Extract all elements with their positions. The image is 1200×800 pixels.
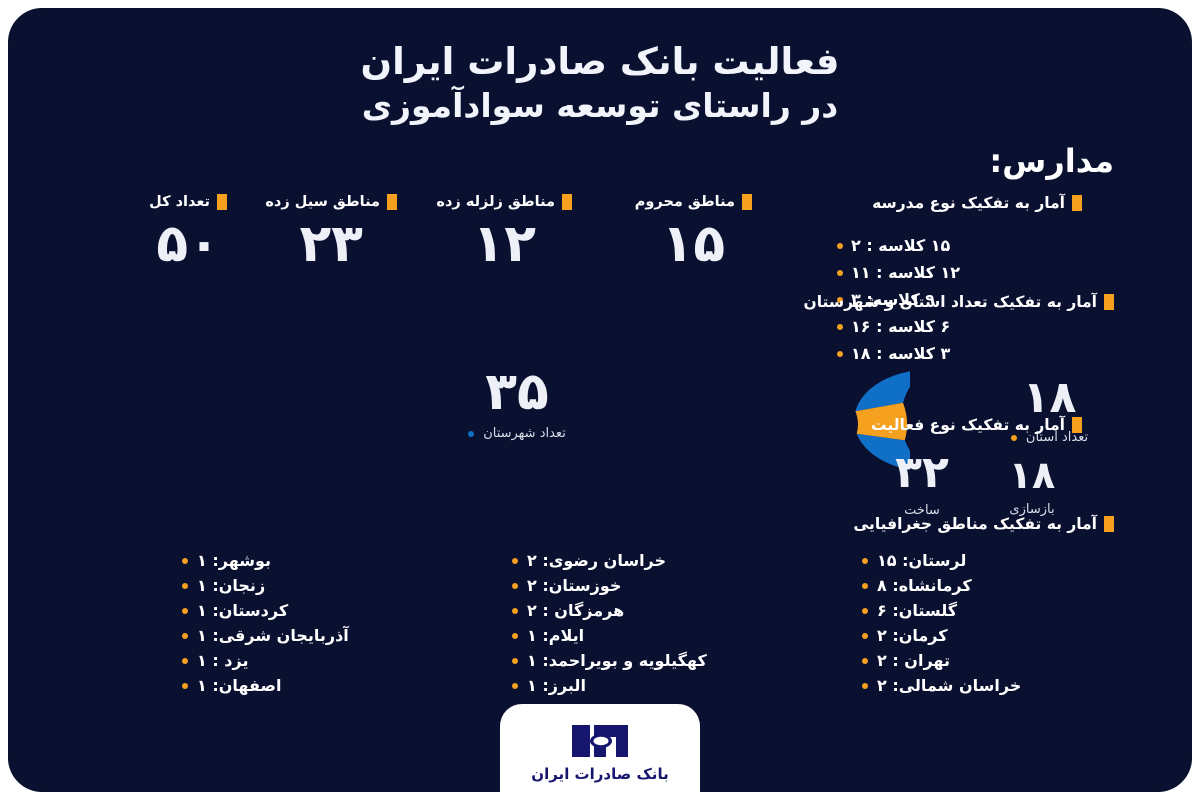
bullet-dot-icon — [512, 658, 518, 664]
geographic-item-label: لرستان: ۱۵ — [877, 553, 966, 569]
activity-type-heading: آمار به تفکیک نوع فعالیت — [871, 416, 1082, 434]
activity-type-heading-label: آمار به تفکیک نوع فعالیت — [871, 416, 1065, 434]
geographic-item-label: گلستان: ۶ — [877, 603, 957, 619]
bullet-square-icon — [217, 194, 227, 210]
stat-total-schools-head: تعداد کل — [149, 194, 227, 210]
stat-earthquake-areas-label: مناطق زلزله زده — [436, 194, 555, 210]
bullet-square-icon — [1104, 294, 1114, 310]
activity-renovation-value: ۱۸ — [982, 456, 1082, 494]
title-line-2: در راستای توسعه سوادآموزی — [8, 85, 1192, 127]
geographic-item-label: کرمان: ۲ — [877, 628, 948, 644]
school-type-item-label: ۱۵ کلاسه : ۲ — [851, 238, 950, 254]
legend-dot-blue-icon — [468, 431, 474, 437]
county-count-label: تعداد شهرستان — [483, 426, 566, 441]
geographic-item-label: آذربایجان شرقی: ۱ — [197, 628, 349, 644]
list-item: کهگیلویه و بویراحمد: ۱ — [512, 653, 812, 669]
legend-dot-orange-icon — [1011, 435, 1017, 441]
bullet-dot-icon — [862, 608, 868, 614]
list-item: زنجان: ۱ — [182, 578, 402, 594]
geographic-item-label: بوشهر: ۱ — [197, 553, 271, 569]
list-item: خراسان رضوی: ۲ — [512, 553, 812, 569]
geographic-item-label: کردستان: ۱ — [197, 603, 288, 619]
list-item: بوشهر: ۱ — [182, 553, 402, 569]
geographic-column-1: لرستان: ۱۵ کرمانشاه: ۸ گلستان: ۶ کرمان: … — [862, 553, 1112, 703]
bullet-dot-icon — [512, 583, 518, 589]
geographic-item-label: یزد : ۱ — [197, 653, 248, 669]
bullet-dot-icon — [862, 633, 868, 639]
province-count: ۱۸ تعداد استان — [987, 376, 1112, 445]
list-item: ۱۲ کلاسه : ۱۱ — [837, 265, 1082, 281]
stat-total-schools: تعداد کل ۵۰ — [149, 194, 227, 270]
bullet-square-icon — [1104, 516, 1114, 532]
geographic-heading: آمار به تفکیک مناطق جغرافیایی — [853, 515, 1114, 533]
stat-deprived-areas-label: مناطق محروم — [635, 194, 735, 210]
province-county-heading: آمار به تفکیک تعداد استان و شهرستان — [803, 293, 1114, 311]
bank-logo-wordmark: بانک صادرات ایران — [531, 765, 668, 783]
list-item: ۱۵ کلاسه : ۲ — [837, 238, 1082, 254]
activity-renovation: ۱۸ بازسازی — [982, 456, 1082, 517]
province-count-value: ۱۸ — [987, 376, 1112, 420]
geographic-column-3: بوشهر: ۱ زنجان: ۱ کردستان: ۱ آذربایجان ش… — [182, 553, 402, 703]
bullet-dot-icon — [182, 633, 188, 639]
list-item: ایلام: ۱ — [512, 628, 812, 644]
list-item: کرمان: ۲ — [862, 628, 1112, 644]
list-item: خوزستان: ۲ — [512, 578, 812, 594]
geographic-item-label: تهران : ۲ — [877, 653, 950, 669]
province-county-heading-label: آمار به تفکیک تعداد استان و شهرستان — [803, 293, 1097, 311]
stat-flood-areas: مناطق سیل زده ۲۳ — [265, 194, 397, 270]
geographic-item-label: ایلام: ۱ — [527, 628, 584, 644]
list-item: یزد : ۱ — [182, 653, 402, 669]
bullet-dot-icon — [837, 324, 843, 330]
stat-flood-areas-value: ۲۳ — [265, 218, 397, 270]
bullet-dot-icon — [862, 658, 868, 664]
school-type-heading: آمار به تفکیک نوع مدرسه — [872, 194, 1082, 212]
bullet-dot-icon — [862, 583, 868, 589]
bullet-dot-icon — [512, 608, 518, 614]
geographic-heading-label: آمار به تفکیک مناطق جغرافیایی — [853, 515, 1097, 533]
activity-construction-value: ۳۲ — [867, 451, 977, 495]
bullet-dot-icon — [512, 683, 518, 689]
stat-deprived-areas-value: ۱۵ — [635, 218, 752, 270]
bullet-dot-icon — [182, 608, 188, 614]
bullet-dot-icon — [182, 583, 188, 589]
list-item: آذربایجان شرقی: ۱ — [182, 628, 402, 644]
bullet-dot-icon — [862, 558, 868, 564]
list-item: البرز: ۱ — [512, 678, 812, 694]
geographic-item-label: خراسان شمالی: ۲ — [877, 678, 1021, 694]
list-item: لرستان: ۱۵ — [862, 553, 1112, 569]
stat-total-schools-value: ۵۰ — [149, 218, 227, 270]
geographic-item-label: خوزستان: ۲ — [527, 578, 621, 594]
county-count: ۳۵ تعداد شهرستان — [432, 366, 602, 441]
stat-flood-areas-label: مناطق سیل زده — [265, 194, 380, 210]
list-item: گلستان: ۶ — [862, 603, 1112, 619]
bank-logo: بانک صادرات ایران — [500, 704, 700, 792]
stat-earthquake-areas-head: مناطق زلزله زده — [436, 194, 572, 210]
geographic-item-label: زنجان: ۱ — [197, 578, 265, 594]
stat-total-schools-label: تعداد کل — [149, 194, 210, 210]
geographic-item-label: خراسان رضوی: ۲ — [527, 553, 666, 569]
geographic-item-label: اصفهان: ۱ — [197, 678, 281, 694]
geographic-item-label: کهگیلویه و بویراحمد: ۱ — [527, 653, 707, 669]
list-item: تهران : ۲ — [862, 653, 1112, 669]
bullet-dot-icon — [182, 558, 188, 564]
county-count-value: ۳۵ — [432, 366, 602, 418]
schools-heading: مدارس: — [989, 142, 1114, 180]
bullet-square-icon — [742, 194, 752, 210]
geographic-column-2: خراسان رضوی: ۲ خوزستان: ۲ هرمزگان : ۲ ای… — [512, 553, 812, 703]
bullet-dot-icon — [182, 658, 188, 664]
infographic-poster: فعالیت بانک صادرات ایران در راستای توسعه… — [8, 8, 1192, 792]
stat-deprived-areas-head: مناطق محروم — [635, 194, 752, 210]
bullet-dot-icon — [837, 270, 843, 276]
geographic-item-label: کرمانشاه: ۸ — [877, 578, 972, 594]
bullet-square-icon — [1072, 417, 1082, 433]
list-item: کرمانشاه: ۸ — [862, 578, 1112, 594]
bullet-square-icon — [562, 194, 572, 210]
stat-earthquake-areas: مناطق زلزله زده ۱۲ — [436, 194, 572, 270]
bullet-square-icon — [1072, 195, 1082, 211]
list-item: اصفهان: ۱ — [182, 678, 402, 694]
stat-deprived-areas: مناطق محروم ۱۵ — [635, 194, 752, 270]
list-item: ۶ کلاسه : ۱۶ — [837, 319, 1082, 335]
list-item: هرمزگان : ۲ — [512, 603, 812, 619]
bank-saderat-logo-icon — [568, 721, 632, 761]
school-type-heading-label: آمار به تفکیک نوع مدرسه — [872, 194, 1065, 212]
stat-flood-areas-head: مناطق سیل زده — [265, 194, 397, 210]
county-count-caption: تعداد شهرستان — [432, 426, 602, 441]
page-title: فعالیت بانک صادرات ایران در راستای توسعه… — [8, 38, 1192, 128]
bullet-dot-icon — [837, 243, 843, 249]
school-type-item-label: ۱۲ کلاسه : ۱۱ — [851, 265, 960, 281]
school-type-item-label: ۶ کلاسه : ۱۶ — [851, 319, 950, 335]
title-line-1: فعالیت بانک صادرات ایران — [8, 38, 1192, 85]
bullet-dot-icon — [512, 558, 518, 564]
bullet-dot-icon — [182, 683, 188, 689]
bullet-dot-icon — [512, 633, 518, 639]
bullet-dot-icon — [862, 683, 868, 689]
list-item: خراسان شمالی: ۲ — [862, 678, 1112, 694]
list-item: کردستان: ۱ — [182, 603, 402, 619]
geographic-item-label: البرز: ۱ — [527, 678, 586, 694]
stat-earthquake-areas-value: ۱۲ — [436, 218, 572, 270]
geographic-item-label: هرمزگان : ۲ — [527, 603, 624, 619]
activity-construction: ۳۲ ساخت — [867, 451, 977, 518]
bullet-square-icon — [387, 194, 397, 210]
